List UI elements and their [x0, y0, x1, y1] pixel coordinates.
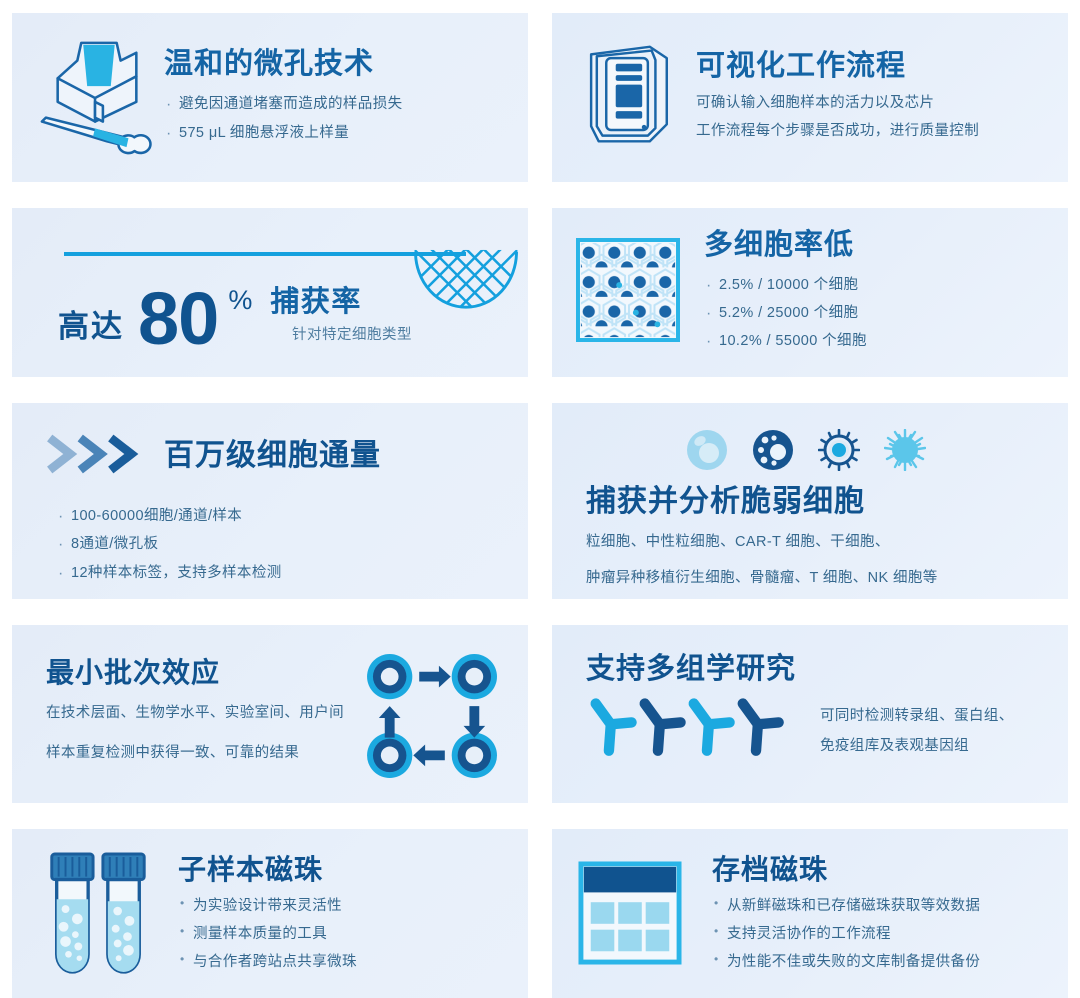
- list-item: 10.2% / 55000 个细胞: [704, 327, 867, 355]
- card-gentle-microwell: 温和的微孔技术 避免因通道堵塞而造成的样品损失 575 μL 细胞悬浮液上样量: [12, 13, 528, 182]
- list-item: 8通道/微孔板: [56, 530, 494, 558]
- test-tubes-icon: [38, 844, 158, 987]
- card-body: 子样本磁珠 为实验设计带来灵活性 测量样本质量的工具 与合作者跨站点共享微珠: [178, 854, 357, 977]
- card-heading-row: 百万级细胞通量: [46, 433, 494, 480]
- card-body: 可视化工作流程 可确认输入细胞样本的活力以及芯片 工作流程每个步骤是否成功，进行…: [696, 50, 979, 145]
- card-title: 多细胞率低: [704, 229, 867, 262]
- card-title: 百万级细胞通量: [164, 439, 381, 474]
- card-body: 多细胞率低 2.5% / 10000 个细胞 5.2% / 25000 个细胞 …: [704, 229, 867, 355]
- cell-granular-icon: [752, 429, 794, 471]
- card-line: 肿瘤异种移植衍生细胞、骨髓瘤、T 细胞、NK 细胞等: [586, 564, 1034, 592]
- card-low-multiplet: 多细胞率低 2.5% / 10000 个细胞 5.2% / 25000 个细胞 …: [552, 208, 1068, 377]
- card-line: 可同时检测转录组、蛋白组、: [820, 702, 1014, 732]
- card-title: 温和的微孔技术: [164, 48, 403, 81]
- bullet-list: 从新鲜磁珠和已存储磁珠获取等效数据 支持灵活协作的工作流程 为性能不佳或失败的文…: [712, 892, 980, 977]
- card-line: 可确认输入细胞样本的活力以及芯片: [696, 90, 979, 118]
- list-item: 与合作者跨站点共享微珠: [178, 948, 357, 976]
- antibody-icon: [586, 696, 794, 767]
- card-title: 存档磁珠: [712, 854, 980, 886]
- instrument-pipette-icon: [38, 31, 156, 164]
- card-line: 粒细胞、中性粒细胞、CAR-T 细胞、干细胞、: [586, 528, 1034, 556]
- list-item: 为实验设计带来灵活性: [178, 892, 357, 920]
- card-subsample-beads: 子样本磁珠 为实验设计带来灵活性 测量样本质量的工具 与合作者跨站点共享微珠: [12, 829, 528, 998]
- capture-rate-number: 80: [138, 289, 218, 350]
- cell-fuzzy-icon: [884, 429, 926, 471]
- card-fragile-cells: 捕获并分析脆弱细胞 粒细胞、中性粒细胞、CAR-T 细胞、干细胞、 肿瘤异种移植…: [552, 403, 1068, 599]
- list-item: 5.2% / 25000 个细胞: [704, 299, 867, 327]
- cell-spiked-icon: [818, 429, 860, 471]
- card-visual-workflow: 可视化工作流程 可确认输入细胞样本的活力以及芯片 工作流程每个步骤是否成功，进行…: [552, 13, 1068, 182]
- net-icon: [412, 246, 520, 319]
- prefix-label: 高达: [58, 301, 124, 346]
- bullet-list: 100-60000细胞/通道/样本 8通道/微孔板 12种样本标签，支持多样本检…: [56, 502, 494, 587]
- capture-rate-label: 捕获率: [270, 278, 362, 320]
- card-million-throughput: 百万级细胞通量 100-60000细胞/通道/样本 8通道/微孔板 12种样本标…: [12, 403, 528, 599]
- list-item: 575 μL 细胞悬浮液上样量: [164, 119, 403, 147]
- card-multi-omics: 支持多组学研究 可同时检测转录组、蛋白组、: [552, 625, 1068, 803]
- bullet-list: 避免因通道堵塞而造成的样品损失 575 μL 细胞悬浮液上样量: [164, 90, 403, 147]
- list-item: 100-60000细胞/通道/样本: [56, 502, 494, 530]
- card-title: 支持多组学研究: [586, 653, 1034, 686]
- plate-grid-icon: [578, 861, 694, 970]
- card-archive-beads: 存档磁珠 从新鲜磁珠和已存储磁珠获取等效数据 支持灵活协作的工作流程 为性能不佳…: [552, 829, 1068, 998]
- feature-card-grid: 温和的微孔技术 避免因通道堵塞而造成的样品损失 575 μL 细胞悬浮液上样量: [0, 0, 1080, 998]
- list-item: 避免因通道堵塞而造成的样品损失: [164, 90, 403, 118]
- percent-sign: %: [228, 285, 252, 316]
- list-item: 2.5% / 10000 个细胞: [704, 271, 867, 299]
- card-body: 温和的微孔技术 避免因通道堵塞而造成的样品损失 575 μL 细胞悬浮液上样量: [164, 48, 403, 147]
- card-line: 免疫组库及表观基因组: [820, 732, 1014, 762]
- cell-type-icons: [686, 429, 1034, 471]
- hexagon-well-array-icon: [576, 238, 682, 347]
- cell-plain-icon: [686, 429, 728, 471]
- card-content-row: 可同时检测转录组、蛋白组、 免疫组库及表观基因组: [586, 696, 1034, 767]
- card-body: 存档磁珠 从新鲜磁珠和已存储磁珠获取等效数据 支持灵活协作的工作流程 为性能不佳…: [712, 854, 980, 977]
- card-title: 捕获并分析脆弱细胞: [586, 485, 1034, 520]
- cycle-flow-icon: [364, 653, 502, 784]
- list-item: 支持灵活协作的工作流程: [712, 920, 980, 948]
- card-line: 工作流程每个步骤是否成功，进行质量控制: [696, 118, 979, 146]
- bullet-list: 2.5% / 10000 个细胞 5.2% / 25000 个细胞 10.2% …: [704, 271, 867, 356]
- chevrons-icon: [46, 433, 148, 480]
- card-title: 子样本磁珠: [178, 854, 357, 886]
- list-item: 为性能不佳或失败的文库制备提供备份: [712, 948, 980, 976]
- card-batch-effect: 最小批次效应 在技术层面、生物学水平、实验室间、用户间 样本重复检测中获得一致、…: [12, 625, 528, 803]
- list-item: 12种样本标签，支持多样本检测: [56, 559, 494, 587]
- list-item: 从新鲜磁珠和已存储磁珠获取等效数据: [712, 892, 980, 920]
- card-title: 可视化工作流程: [696, 50, 979, 83]
- bullet-list: 为实验设计带来灵活性 测量样本质量的工具 与合作者跨站点共享微珠: [178, 892, 357, 977]
- net-rim-line: [64, 252, 466, 256]
- omics-lines: 可同时检测转录组、蛋白组、 免疫组库及表观基因组: [794, 702, 1014, 761]
- capture-rate-note: 针对特定细胞类型: [292, 323, 412, 344]
- card-capture-rate: 高达 80 % 捕获率 针对特定细胞类型: [12, 208, 528, 377]
- cartridge-chip-icon: [576, 33, 680, 162]
- list-item: 测量样本质量的工具: [178, 920, 357, 948]
